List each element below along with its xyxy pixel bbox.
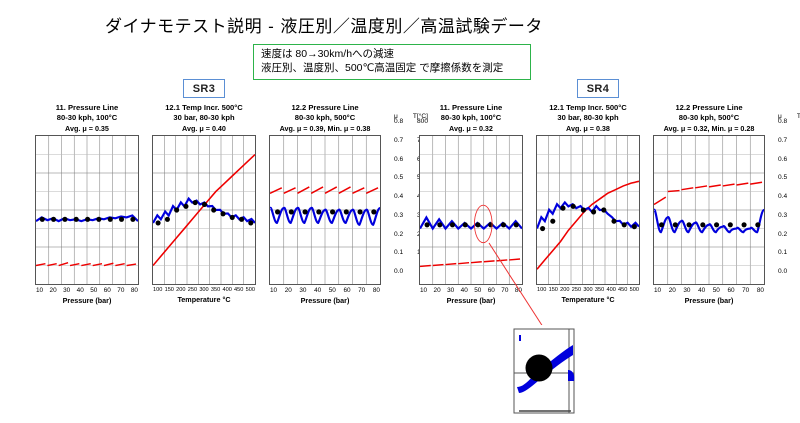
x-tick: 20 [285,287,292,294]
chart-header: 12.2 Pressure Line 80-30 kph, 500°C Avg.… [269,103,381,134]
avg-marker [193,200,198,205]
avg-marker [632,224,637,229]
mu-tick: 0.3 [778,212,787,222]
temperature-trace [270,187,378,193]
chart-stats: Avg. μ = 0.35 [35,122,139,134]
avg-marker [289,209,294,214]
chart-sr3-121: 12.1 Temp Incr. 500°C 30 bar, 80-30 kph … [152,103,256,305]
avg-marker [239,217,244,222]
avg-marker [700,222,705,227]
chart-title: 11. Pressure Line [419,103,523,113]
page-title-sub: 液圧別／温度別／高温試験データ [280,17,543,36]
page-title-dash: - [262,17,280,36]
x-axis-label: Pressure (bar) [35,294,139,305]
x-axis-ticks: 1020304050607080 [269,285,381,294]
avg-marker [475,222,480,227]
avg-marker [130,217,135,222]
avg-marker [344,209,349,214]
plot-area [35,135,139,285]
note-line-2: 液圧別、温度別、500℃高温固定 で摩擦係数を測定 [261,62,524,76]
x-axis-label: Temperature °C [152,293,256,304]
x-tick: 200 [176,287,185,293]
chart-group-sr3: 11. Pressure Line 80-30 kph, 100°C Avg. … [35,103,428,305]
avg-marker [728,222,733,227]
mu-tick: 0.5 [394,174,403,184]
plot-area [653,135,765,285]
x-axis-ticks: 1020304050607080 [35,285,139,294]
avg-marker [371,209,376,214]
sr3-tag: SR3 [183,79,225,98]
x-axis-ticks: 100150200250300350400450500 [536,285,640,293]
avg-marker [211,207,216,212]
mu-tick: 0.3 [394,212,403,222]
avg-marker [303,209,308,214]
x-tick: 50 [713,287,720,294]
x-tick: 10 [270,287,277,294]
x-axis-label: Pressure (bar) [269,294,381,305]
detail-callout-graphic [511,325,581,417]
temperature-trace [36,263,136,266]
avg-marker [358,209,363,214]
avg-marker [450,222,455,227]
mu-tick: 0.6 [778,156,787,166]
x-tick: 50 [474,287,481,294]
chart-header: 12.1 Temp Incr. 500°C 30 bar, 80-30 kph … [536,103,640,134]
avg-marker [156,220,161,225]
avg-marker [119,217,124,222]
avg-marker [74,217,79,222]
x-tick: 500 [630,287,639,293]
mu-tick: 0.4 [778,193,787,203]
chart-group-sr4: 11. Pressure Line 80-30 kph, 100°C Avg. … [419,103,800,305]
chart-header: 12.2 Pressure Line 80-30 kph, 500°C Avg.… [653,103,765,134]
chart-stats: Avg. μ = 0.32, Min. μ = 0.28 [653,122,765,134]
x-tick: 300 [199,287,208,293]
x-tick: 60 [727,287,734,294]
x-tick: 20 [434,287,441,294]
x-tick: 400 [606,287,615,293]
mu-tick: 0.7 [778,137,787,147]
avg-marker [755,222,760,227]
avg-marker [248,220,253,225]
x-axis-ticks: 1020304050607080 [419,285,523,294]
chart-sr3-122: 12.2 Pressure Line 80-30 kph, 500°C Avg.… [269,103,381,305]
mu-tick: 0.7 [394,137,403,147]
chart-sr4-122: 12.2 Pressure Line 80-30 kph, 500°C Avg.… [653,103,765,305]
page-title-main: ダイナモテスト説明 [105,17,262,36]
x-axis-ticks: 1020304050607080 [653,285,765,294]
plot-canvas [153,136,255,284]
x-tick: 30 [299,287,306,294]
chart-stats: Avg. μ = 0.32 [419,122,523,134]
plot-area [419,135,523,285]
chart-stats: Avg. μ = 0.38 [536,122,640,134]
plot-canvas [420,136,522,284]
plot-canvas [270,136,380,284]
plot-canvas [537,136,639,284]
sr4-tag: SR4 [577,79,619,98]
detail-callout [511,325,581,417]
x-tick: 10 [420,287,427,294]
chart-title: 12.1 Temp Incr. 500°C [152,103,256,113]
chart-subtitle: 80-30 kph, 500°C [269,113,381,123]
note-box: 速度は 80→30km/hへの減速 液圧別、温度別、500℃高温固定 で摩擦係数… [253,44,531,80]
avg-marker [62,217,67,222]
y-axis-tick-row: 0.6 600 [778,156,800,166]
x-tick: 100 [537,287,546,293]
avg-marker [230,215,235,220]
temperature-trace [654,182,762,204]
x-axis-ticks: 100150200250300350400450500 [152,285,256,293]
charts-row-sr3: 11. Pressure Line 80-30 kph, 100°C Avg. … [35,103,428,305]
avg-marker [571,204,576,209]
avg-marker [463,222,468,227]
chart-subtitle: 30 bar, 80-30 kph [536,113,640,123]
avg-marker [437,222,442,227]
plot-canvas [36,136,138,284]
chart-subtitle: 80-30 kph, 100°C [419,113,523,123]
avg-marker [425,222,430,227]
avg-marker [183,204,188,209]
avg-marker [687,222,692,227]
avg-marker [622,222,627,227]
avg-marker [673,222,678,227]
avg-marker [501,222,506,227]
x-tick: 350 [211,287,220,293]
x-tick: 250 [572,287,581,293]
mu-tick: 0.2 [394,231,403,241]
x-tick: 80 [131,287,138,294]
x-tick: 400 [222,287,231,293]
x-tick: 80 [373,287,380,294]
avg-marker [316,209,321,214]
plot-canvas [654,136,764,284]
y-axis-tick-row: 0.2 200 [778,231,800,241]
avg-marker [601,207,606,212]
x-tick: 250 [188,287,197,293]
x-tick: 30 [683,287,690,294]
x-tick: 150 [549,287,558,293]
x-tick: 10 [654,287,661,294]
x-tick: 300 [583,287,592,293]
chart-subtitle: 80-30 kph, 500°C [653,113,765,123]
x-tick: 10 [36,287,43,294]
mu-tick: 0.0 [778,268,787,278]
x-tick: 500 [246,287,255,293]
avg-marker [108,217,113,222]
avg-marker [550,219,555,224]
chart-title: 12.2 Pressure Line [269,103,381,113]
x-tick: 100 [153,287,162,293]
avg-marker [165,217,170,222]
mu-tick: 0.1 [394,249,403,259]
y-axis-tick-row: 0.5 500 [778,174,800,184]
x-tick: 20 [669,287,676,294]
x-tick: 50 [90,287,97,294]
x-tick: 30 [447,287,454,294]
x-tick: 350 [595,287,604,293]
note-line-1: 速度は 80→30km/hへの減速 [261,48,524,62]
chart-sr4-11: 11. Pressure Line 80-30 kph, 100°C Avg. … [419,103,523,305]
avg-marker [40,217,45,222]
avg-marker [85,217,90,222]
x-tick: 450 [234,287,243,293]
charts-row-sr4: 11. Pressure Line 80-30 kph, 100°C Avg. … [419,103,800,305]
x-tick: 60 [104,287,111,294]
x-tick: 20 [50,287,57,294]
chart-title: 11. Pressure Line [35,103,139,113]
chart-header: 11. Pressure Line 80-30 kph, 100°C Avg. … [419,103,523,134]
x-tick: 50 [329,287,336,294]
avg-marker [174,207,179,212]
x-tick: 70 [742,287,749,294]
avg-marker [742,222,747,227]
plot-area [536,135,640,285]
y-axis-tick-row: 0.8 800 [778,118,800,128]
chart-subtitle: 30 bar, 80-30 kph [152,113,256,123]
avg-marker [514,222,519,227]
y-axis-tick-row: 0.1 100 [778,249,800,259]
chart-subtitle: 80-30 kph, 100°C [35,113,139,123]
chart-stats: Avg. μ = 0.40 [152,122,256,134]
y-axis-tick-row: 0.7 700 [778,137,800,147]
x-axis-label: Pressure (bar) [419,294,523,305]
avg-marker [591,209,596,214]
avg-marker [330,209,335,214]
mu-tick: 0.8 [394,118,403,128]
x-tick: 150 [165,287,174,293]
mu-tick: 0.0 [394,268,403,278]
avg-marker [220,211,225,216]
chart-sr4-121: 12.1 Temp Incr. 500°C 30 bar, 80-30 kph … [536,103,640,305]
plot-area [152,135,256,285]
x-tick: 60 [343,287,350,294]
chart-header: 11. Pressure Line 80-30 kph, 100°C Avg. … [35,103,139,134]
mu-tick: 0.1 [778,249,787,259]
slide-canvas: ダイナモテスト説明-液圧別／温度別／高温試験データ 速度は 80→30km/hへ… [0,0,800,423]
chart-stats: Avg. μ = 0.39, Min. μ = 0.38 [269,122,381,134]
avg-marker [611,219,616,224]
x-axis-label: Temperature °C [536,293,640,304]
y-axis: μ T[°C] 0.8 800 0.7 700 0.6 600 0.5 500 … [778,123,800,273]
mu-tick: 0.8 [778,118,787,128]
avg-marker [275,209,280,214]
chart-title: 12.1 Temp Incr. 500°C [536,103,640,113]
mu-tick: 0.6 [394,156,403,166]
avg-marker [714,222,719,227]
mu-tick: 0.2 [778,231,787,241]
x-tick: 80 [515,287,522,294]
x-tick: 30 [63,287,70,294]
y-axis-tick-row: 0.4 400 [778,193,800,203]
x-tick: 40 [461,287,468,294]
y-axis-tick-row: 0.0 0 [778,268,800,278]
x-axis-label: Pressure (bar) [653,294,765,305]
avg-marker [560,206,565,211]
avg-marker [540,226,545,231]
x-tick: 80 [757,287,764,294]
avg-marker [659,222,664,227]
mu-tick: 0.5 [778,174,787,184]
y-axis-tick-row: 0.3 300 [778,212,800,222]
avg-marker [51,217,56,222]
x-tick: 70 [117,287,124,294]
chart-header: 12.1 Temp Incr. 500°C 30 bar, 80-30 kph … [152,103,256,134]
x-tick: 70 [501,287,508,294]
x-tick: 450 [618,287,627,293]
avg-marker [581,207,586,212]
x-tick: 200 [560,287,569,293]
x-tick: 40 [314,287,321,294]
avg-marker [96,217,101,222]
chart-title: 12.2 Pressure Line [653,103,765,113]
plot-area [269,135,381,285]
avg-marker [202,202,207,207]
mu-tick: 0.4 [394,193,403,203]
x-tick: 40 [698,287,705,294]
chart-sr3-11: 11. Pressure Line 80-30 kph, 100°C Avg. … [35,103,139,305]
x-tick: 70 [358,287,365,294]
x-tick: 40 [77,287,84,294]
x-tick: 60 [488,287,495,294]
page-title: ダイナモテスト説明-液圧別／温度別／高温試験データ [105,12,543,37]
